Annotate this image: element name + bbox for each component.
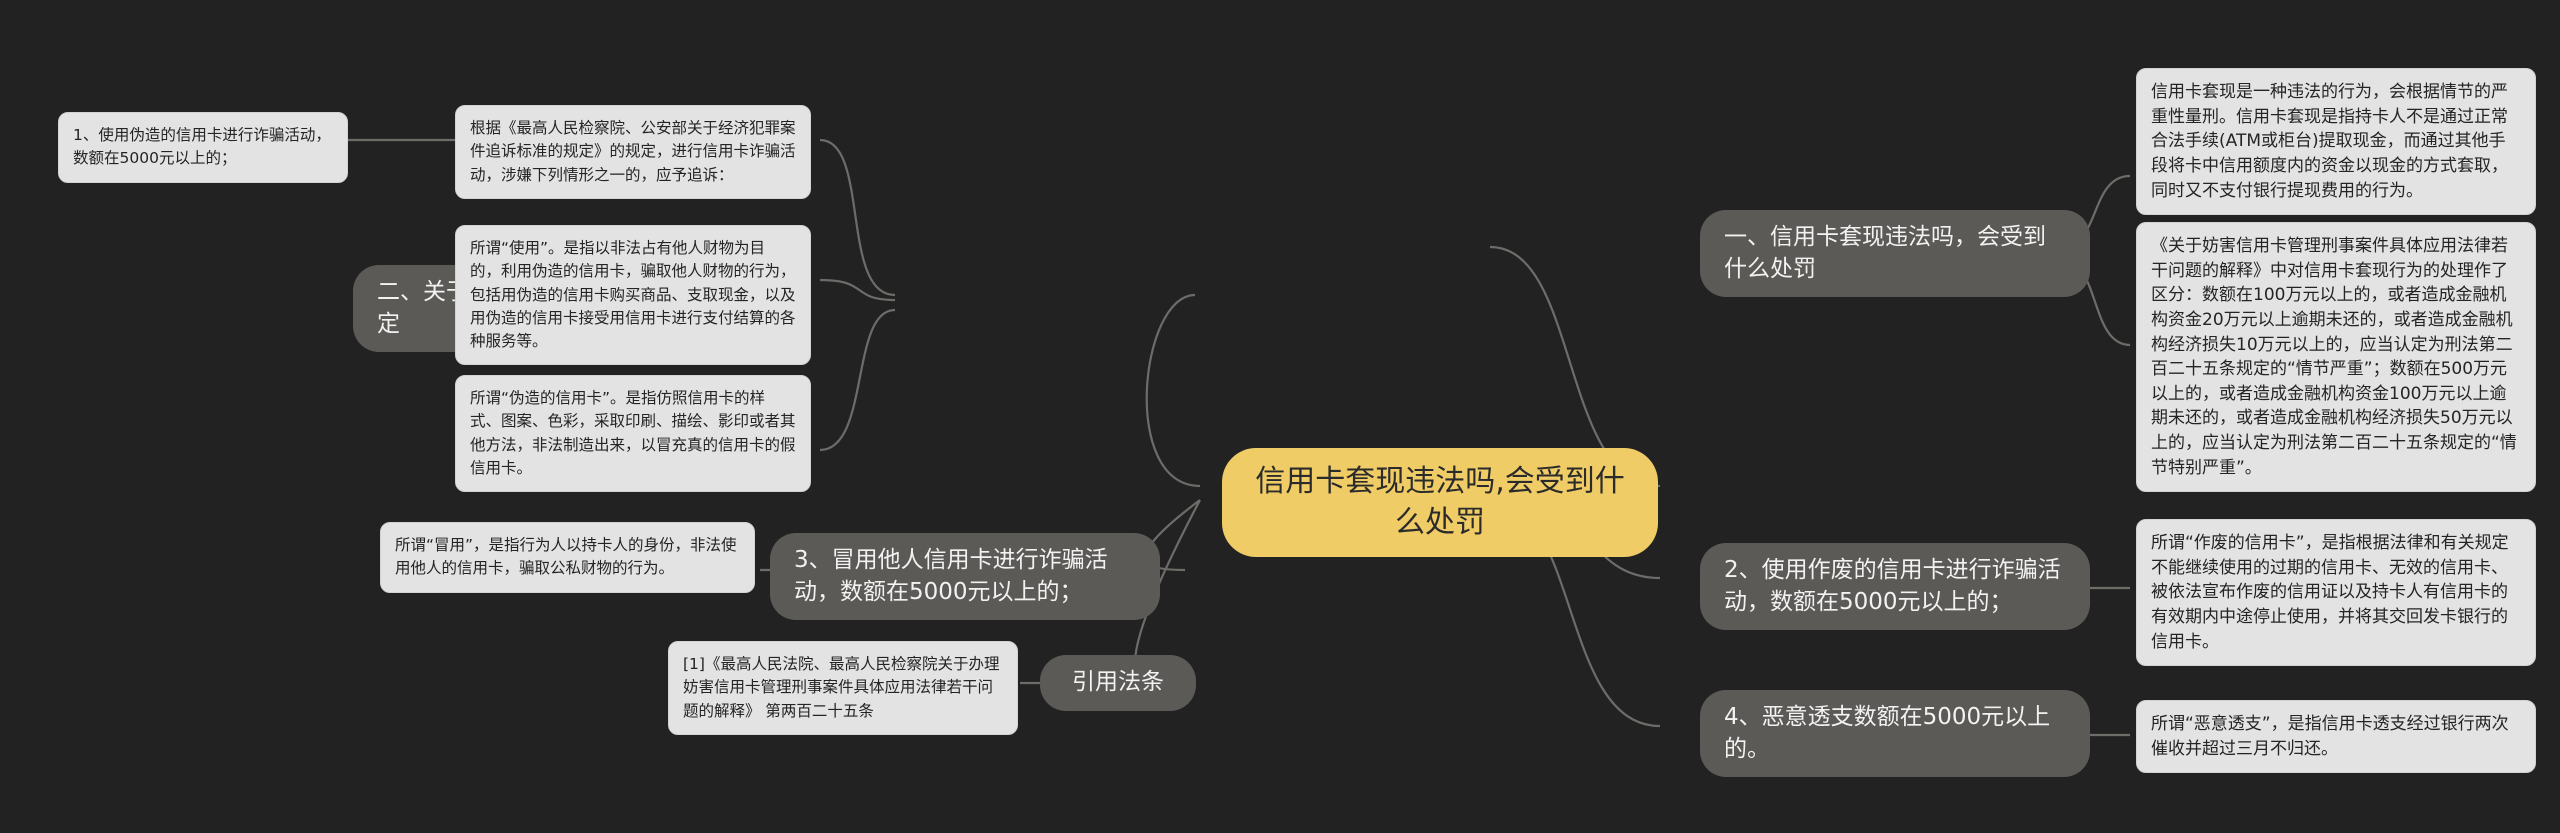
branch-right-2-label: 2、使用作废的信用卡进行诈骗活动，数额在5000元以上的；	[1724, 555, 2066, 618]
branch-right-2[interactable]: 2、使用作废的信用卡进行诈骗活动，数额在5000元以上的；	[1700, 543, 2090, 630]
leaf-right-2-text: 《关于妨害信用卡管理刑事案件具体应用法律若干问题的解释》中对信用卡套现行为的处理…	[2151, 234, 2521, 480]
branch-right-3-label: 4、恶意透支数额在5000元以上的。	[1724, 702, 2066, 765]
edge-left-b1-leaf-1	[820, 140, 895, 295]
branch-left-3-label: 引用法条	[1072, 667, 1164, 699]
leaf-left-3-text: 所谓“使用”。是指以非法占有他人财物为目的，利用伪造的信用卡，骗取他人财物的行为…	[470, 237, 796, 353]
leaf-left-2[interactable]: 根据《最高人民检察院、公安部关于经济犯罪案件追诉标准的规定》的规定，进行信用卡诈…	[455, 105, 811, 199]
leaf-left-6-text: [1]《最高人民法院、最高人民检察院关于办理妨害信用卡管理刑事案件具体应用法律若…	[683, 653, 1003, 723]
root-node[interactable]: 信用卡套现违法吗,会受到什么处罚	[1222, 448, 1658, 557]
leaf-right-1-text: 信用卡套现是一种违法的行为，会根据情节的严重性量刑。信用卡套现是指持卡人不是通过…	[2151, 80, 2521, 203]
branch-left-3[interactable]: 引用法条	[1040, 655, 1196, 711]
leaf-left-4-text: 所谓“伪造的信用卡”。是指仿照信用卡的样式、图案、色彩，采取印刷、描绘、影印或者…	[470, 387, 796, 480]
leaf-left-3[interactable]: 所谓“使用”。是指以非法占有他人财物为目的，利用伪造的信用卡，骗取他人财物的行为…	[455, 225, 811, 365]
leaf-right-2[interactable]: 《关于妨害信用卡管理刑事案件具体应用法律若干问题的解释》中对信用卡套现行为的处理…	[2136, 222, 2536, 492]
branch-left-2[interactable]: 3、冒用他人信用卡进行诈骗活动，数额在5000元以上的；	[770, 533, 1160, 620]
leaf-left-1[interactable]: 1、使用伪造的信用卡进行诈骗活动，数额在5000元以上的；	[58, 112, 348, 183]
leaf-left-2-text: 根据《最高人民检察院、公安部关于经济犯罪案件追诉标准的规定》的规定，进行信用卡诈…	[470, 117, 796, 187]
leaf-right-3[interactable]: 所谓“作废的信用卡”，是指根据法律和有关规定不能继续使用的过期的信用卡、无效的信…	[2136, 519, 2536, 666]
edge-root-to-left-branch-1	[1147, 295, 1200, 486]
branch-right-1-label: 一、信用卡套现违法吗，会受到什么处罚	[1724, 222, 2066, 285]
branch-left-2-label: 3、冒用他人信用卡进行诈骗活动，数额在5000元以上的；	[794, 545, 1136, 608]
leaf-right-3-text: 所谓“作废的信用卡”，是指根据法律和有关规定不能继续使用的过期的信用卡、无效的信…	[2151, 531, 2521, 654]
leaf-right-1[interactable]: 信用卡套现是一种违法的行为，会根据情节的严重性量刑。信用卡套现是指持卡人不是通过…	[2136, 68, 2536, 215]
leaf-right-4[interactable]: 所谓“恶意透支”，是指信用卡透支经过银行两次催收并超过三月不归还。	[2136, 700, 2536, 773]
leaf-left-5[interactable]: 所谓“冒用”，是指行为人以持卡人的身份，非法使用他人的信用卡，骗取公私财物的行为…	[380, 522, 755, 593]
leaf-left-6[interactable]: [1]《最高人民法院、最高人民检察院关于办理妨害信用卡管理刑事案件具体应用法律若…	[668, 641, 1018, 735]
edge-left-b1-leaf-2	[820, 280, 895, 300]
branch-right-3[interactable]: 4、恶意透支数额在5000元以上的。	[1700, 690, 2090, 777]
branch-right-1[interactable]: 一、信用卡套现违法吗，会受到什么处罚	[1700, 210, 2090, 297]
root-node-label: 信用卡套现违法吗,会受到什么处罚	[1248, 462, 1632, 543]
leaf-left-5-text: 所谓“冒用”，是指行为人以持卡人的身份，非法使用他人的信用卡，骗取公私财物的行为…	[395, 534, 740, 581]
leaf-left-4[interactable]: 所谓“伪造的信用卡”。是指仿照信用卡的样式、图案、色彩，采取印刷、描绘、影印或者…	[455, 375, 811, 492]
edge-left-b1-leaf-3	[820, 310, 895, 450]
mindmap-canvas: 信用卡套现违法吗,会受到什么处罚 一、信用卡套现违法吗，会受到什么处罚 2、使用…	[0, 0, 2560, 833]
leaf-left-1-text: 1、使用伪造的信用卡进行诈骗活动，数额在5000元以上的；	[73, 124, 333, 171]
leaf-right-4-text: 所谓“恶意透支”，是指信用卡透支经过银行两次催收并超过三月不归还。	[2151, 712, 2521, 761]
